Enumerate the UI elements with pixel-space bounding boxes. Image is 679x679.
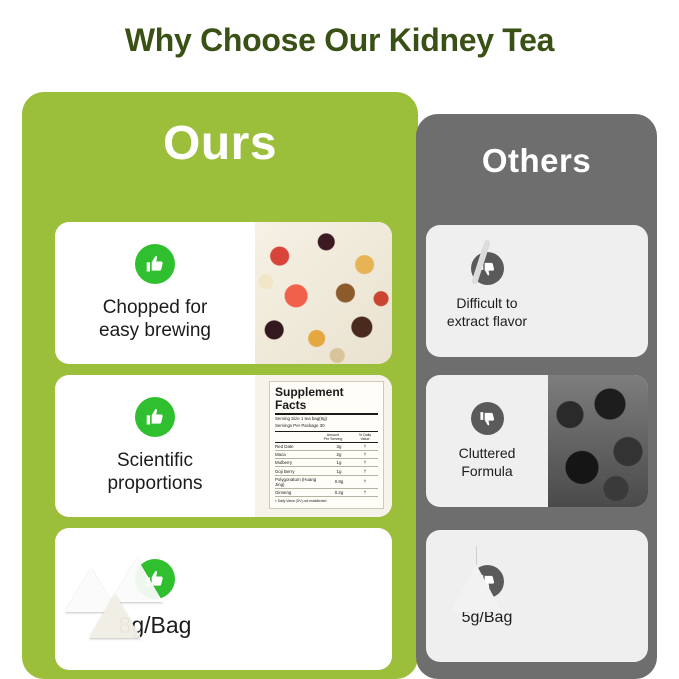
serving-size-text: Serving Size 1 tea bag(8g) bbox=[275, 416, 378, 423]
table-row: Mulberry 1g † bbox=[275, 459, 378, 467]
ours-card-1-content: Chopped for easy brewing bbox=[55, 222, 255, 364]
ours-card-2-line1: Scientific bbox=[107, 449, 202, 472]
supplement-facts-footnote: † Daily Value (DV) not established bbox=[275, 497, 378, 503]
infographic-page: Why Choose Our Kidney Tea Ours Chopped f… bbox=[0, 0, 679, 679]
supplement-facts-servings: Serving Size 1 tea bag(8g) Servings Per … bbox=[275, 415, 378, 431]
others-card-1-text: Difficult to extract flavor bbox=[447, 295, 527, 329]
supplement-facts-title: Supplement Facts bbox=[275, 386, 378, 415]
thumbs-up-icon bbox=[135, 397, 175, 437]
panel-others-heading: Others bbox=[416, 142, 657, 180]
others-card-weight: 5g/Bag bbox=[426, 530, 648, 662]
supplement-facts-label: Supplement Facts Serving Size 1 tea bag(… bbox=[255, 375, 392, 517]
supplement-facts-header-row: Amount Per Serving % Daily Value bbox=[275, 432, 378, 443]
panel-ours-heading: Ours bbox=[22, 116, 418, 171]
chopped-tea-ingredients-photo bbox=[255, 222, 392, 364]
ours-card-2-content: Scientific proportions bbox=[55, 375, 255, 517]
others-card-1-line1: Difficult to bbox=[447, 295, 527, 312]
ours-card-scientific: Scientific proportions Supplement Facts … bbox=[55, 375, 392, 517]
daily-value-header: % Daily Value bbox=[352, 433, 378, 441]
ours-card-weight: 8g/Bag 8g bbox=[55, 528, 392, 670]
amount-per-serving-header: Amount Per Serving bbox=[320, 433, 346, 441]
supplement-facts-panel: Supplement Facts Serving Size 1 tea bag(… bbox=[269, 381, 384, 509]
table-row: Goji Berry 1g † bbox=[275, 467, 378, 475]
tea-bag-shape bbox=[450, 564, 502, 612]
table-row: Red Date 3g † bbox=[275, 443, 378, 451]
others-card-formula: Cluttered Formula bbox=[426, 375, 648, 507]
others-card-2-text: Cluttered Formula bbox=[459, 445, 516, 479]
tea-bag-string bbox=[476, 546, 477, 566]
ours-card-1-line1: Chopped for bbox=[99, 296, 211, 319]
ours-card-2-line2: proportions bbox=[107, 472, 202, 495]
ours-card-2-text: Scientific proportions bbox=[107, 449, 202, 495]
table-row: Polygonatum (Huang Jing) 0.8g † bbox=[275, 476, 378, 489]
others-card-2-line1: Cluttered bbox=[459, 445, 516, 462]
others-card-1-line2: extract flavor bbox=[447, 313, 527, 330]
servings-per-package-text: Servings Per Package 30 bbox=[275, 423, 378, 430]
page-title: Why Choose Our Kidney Tea bbox=[0, 22, 679, 59]
ours-card-chopped: Chopped for easy brewing bbox=[55, 222, 392, 364]
thumbs-down-icon bbox=[471, 402, 504, 435]
thumbs-up-icon bbox=[135, 244, 175, 284]
pyramid-bag-shape bbox=[89, 594, 141, 638]
ours-card-1-text: Chopped for easy brewing bbox=[99, 296, 211, 342]
ours-card-1-line2: easy brewing bbox=[99, 319, 211, 342]
dark-tea-chunks-photo bbox=[548, 375, 648, 507]
table-row: Maca 2g † bbox=[275, 451, 378, 459]
others-card-2-content: Cluttered Formula bbox=[426, 375, 548, 507]
table-row: Ginseng 0.2g † bbox=[275, 489, 378, 497]
others-card-flavor: Difficult to extract flavor bbox=[426, 225, 648, 357]
others-card-2-line2: Formula bbox=[459, 463, 516, 480]
